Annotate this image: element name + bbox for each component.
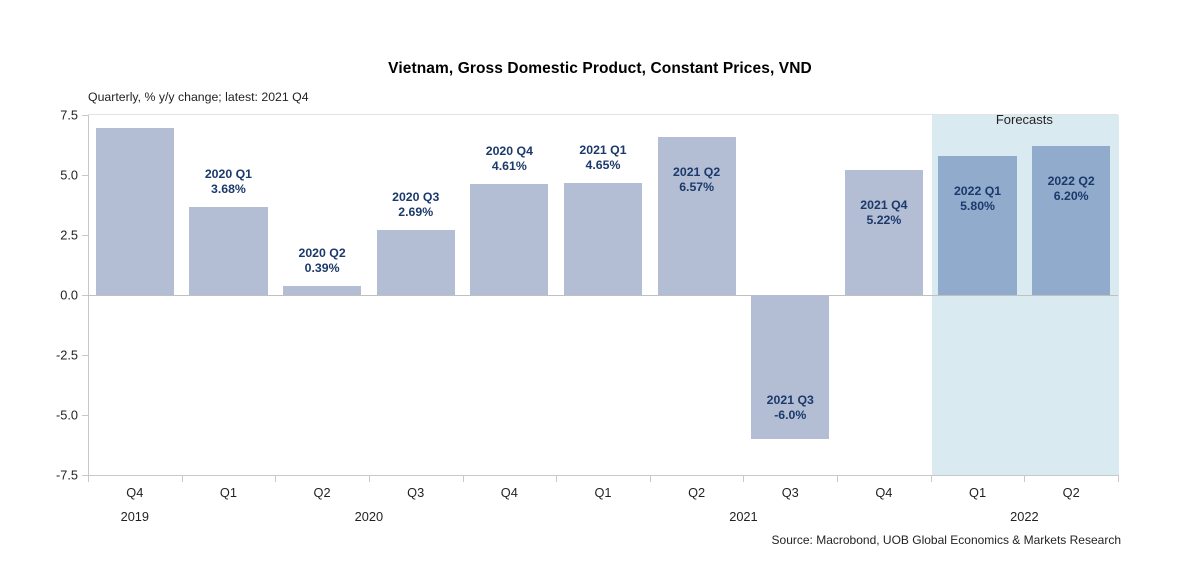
- data-label-period: 2021 Q1: [556, 143, 650, 158]
- x-axis-tick-label: Q3: [743, 485, 837, 500]
- x-axis-tick-mark: [556, 475, 557, 482]
- data-label-2021-q3: 2021 Q3-6.0%: [743, 393, 837, 423]
- bar-2022-q1[interactable]: [938, 156, 1016, 295]
- x-axis-tick-mark: [463, 475, 464, 482]
- x-axis-tick-mark: [1024, 475, 1025, 482]
- zero-baseline: [88, 295, 1118, 296]
- data-label-value: 5.80%: [931, 199, 1025, 214]
- bar-2020-q4[interactable]: [470, 184, 548, 295]
- x-axis-tick-mark: [837, 475, 838, 482]
- y-axis-tick-label: -2.5: [32, 348, 78, 363]
- chart-title: Vietnam, Gross Domestic Product, Constan…: [0, 60, 1200, 78]
- data-label-value: 6.20%: [1024, 189, 1118, 204]
- data-label-period: 2022 Q1: [931, 184, 1025, 199]
- x-axis-tick-label: Q2: [1024, 485, 1118, 500]
- data-label-period: 2021 Q4: [837, 198, 931, 213]
- y-axis-tick-mark: [82, 355, 88, 356]
- y-axis-tick-label: 0.0: [32, 288, 78, 303]
- y-axis-tick-mark: [82, 415, 88, 416]
- data-label-period: 2020 Q4: [463, 144, 557, 159]
- data-label-2021-q1: 2021 Q14.65%: [556, 143, 650, 173]
- x-axis-tick-label: Q4: [88, 485, 182, 500]
- data-label-value: 4.65%: [556, 158, 650, 173]
- y-axis-tick-label: 5.0: [32, 168, 78, 183]
- x-axis-tick-label: Q4: [463, 485, 557, 500]
- data-label-value: 2.69%: [369, 205, 463, 220]
- x-axis-tick-label: Q2: [650, 485, 744, 500]
- data-label-2020-q4: 2020 Q44.61%: [463, 144, 557, 174]
- y-axis-tick-label: 2.5: [32, 228, 78, 243]
- data-label-2020-q1: 2020 Q13.68%: [182, 167, 276, 197]
- y-axis-tick-mark: [82, 115, 88, 116]
- x-axis-tick-mark: [931, 475, 932, 482]
- x-axis-tick-mark: [743, 475, 744, 482]
- data-label-period: 2022 Q2: [1024, 174, 1118, 189]
- data-label-2021-q2: 2021 Q26.57%: [650, 165, 744, 195]
- data-label-value: 6.57%: [650, 180, 744, 195]
- data-label-period: 2021 Q2: [650, 165, 744, 180]
- data-label-2021-q4: 2021 Q45.22%: [837, 198, 931, 228]
- bar-2019-q4[interactable]: [96, 128, 174, 295]
- x-axis-tick-mark: [1118, 475, 1119, 482]
- forecast-region-label: Forecasts: [931, 112, 1118, 127]
- x-axis-tick-mark: [650, 475, 651, 482]
- chart-source: Source: Macrobond, UOB Global Economics …: [772, 533, 1121, 547]
- data-label-value: 3.68%: [182, 182, 276, 197]
- x-axis-tick-mark: [369, 475, 370, 482]
- x-axis-tick-mark: [88, 475, 89, 482]
- x-axis-tick-mark: [182, 475, 183, 482]
- bar-2021-q4[interactable]: [845, 170, 923, 295]
- bar-2022-q2[interactable]: [1032, 146, 1110, 295]
- data-label-2020-q2: 2020 Q20.39%: [275, 246, 369, 276]
- x-axis-tick-label: Q1: [556, 485, 650, 500]
- x-axis-year-label: 2021: [556, 509, 931, 524]
- y-axis-tick-label: -5.0: [32, 408, 78, 423]
- bar-2020-q2[interactable]: [283, 286, 361, 295]
- chart-subtitle: Quarterly, % y/y change; latest: 2021 Q4: [88, 90, 309, 104]
- data-label-value: 4.61%: [463, 159, 557, 174]
- bar-2021-q1[interactable]: [564, 183, 642, 295]
- bar-2021-q2[interactable]: [658, 137, 736, 295]
- data-label-period: 2020 Q2: [275, 246, 369, 261]
- data-label-period: 2021 Q3: [743, 393, 837, 408]
- x-axis-year-label: 2022: [931, 509, 1118, 524]
- x-axis-tick-mark: [275, 475, 276, 482]
- y-axis-tick-mark: [82, 235, 88, 236]
- y-axis-tick-label: -7.5: [32, 468, 78, 483]
- data-label-period: 2020 Q1: [182, 167, 276, 182]
- data-label-value: -6.0%: [743, 408, 837, 423]
- gdp-bar-chart: Vietnam, Gross Domestic Product, Constan…: [0, 0, 1200, 577]
- data-label-2022-q2: 2022 Q26.20%: [1024, 174, 1118, 204]
- data-label-value: 5.22%: [837, 213, 931, 228]
- x-axis-tick-label: Q1: [931, 485, 1025, 500]
- x-axis-tick-label: Q2: [275, 485, 369, 500]
- bar-2020-q3[interactable]: [377, 230, 455, 295]
- bar-2020-q1[interactable]: [189, 207, 267, 295]
- y-axis-tick-label: 7.5: [32, 108, 78, 123]
- data-label-period: 2020 Q3: [369, 190, 463, 205]
- x-axis-tick-label: Q3: [369, 485, 463, 500]
- data-label-2020-q3: 2020 Q32.69%: [369, 190, 463, 220]
- x-axis-year-label: 2019: [88, 509, 182, 524]
- x-axis-year-label: 2020: [182, 509, 557, 524]
- data-label-value: 0.39%: [275, 261, 369, 276]
- x-axis-tick-label: Q1: [182, 485, 276, 500]
- y-axis-tick-mark: [82, 175, 88, 176]
- data-label-2022-q1: 2022 Q15.80%: [931, 184, 1025, 214]
- plot-bottom-rule: [88, 475, 1118, 476]
- x-axis-tick-label: Q4: [837, 485, 931, 500]
